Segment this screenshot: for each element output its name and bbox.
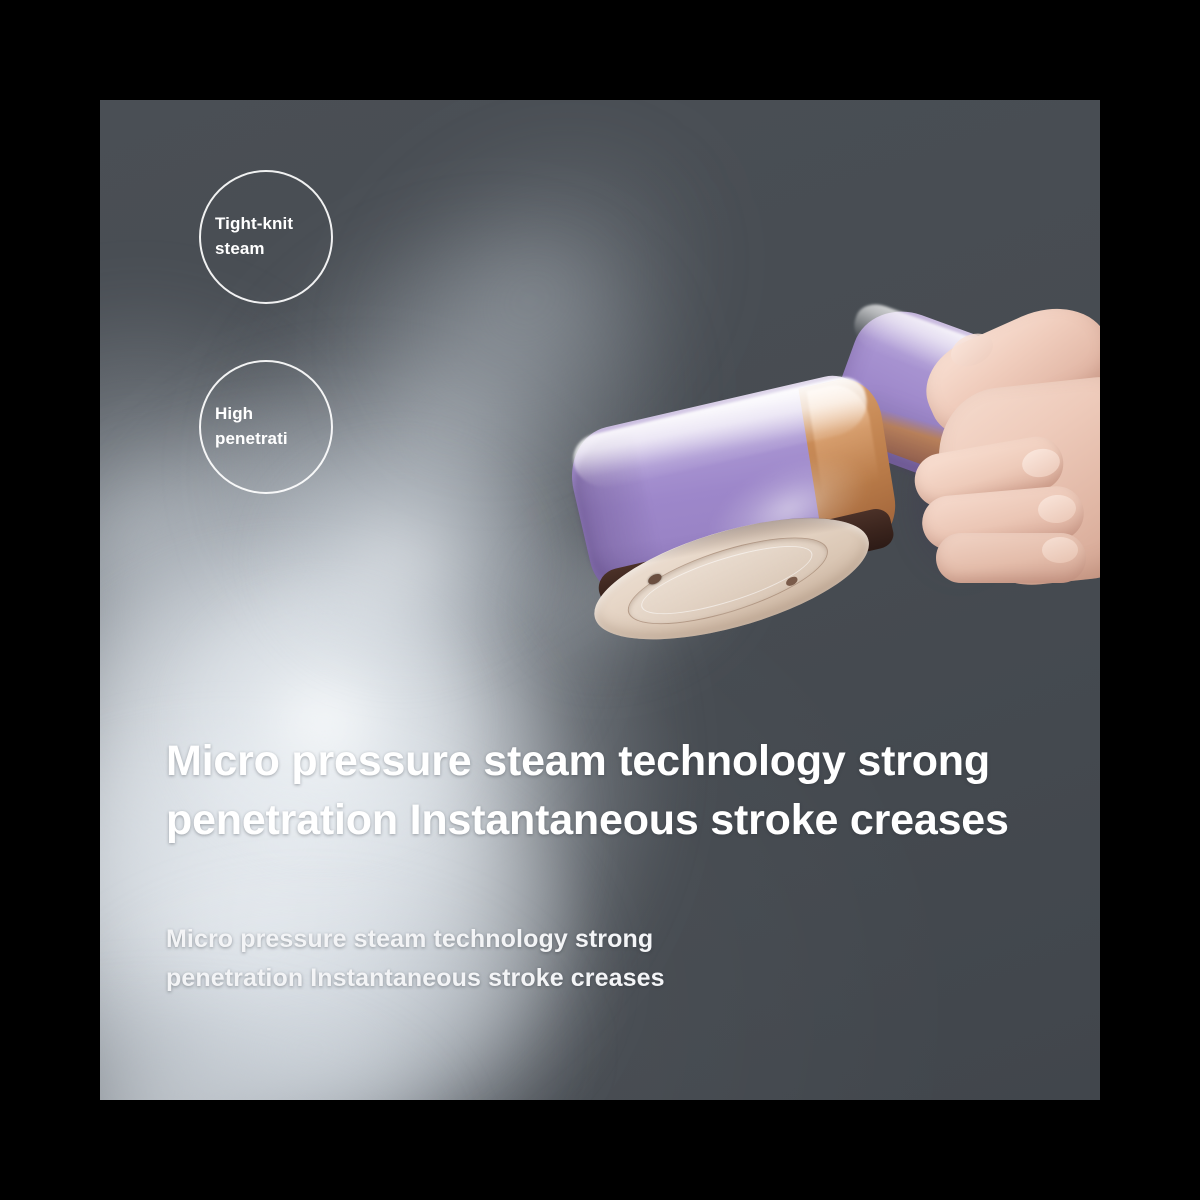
screenshot-canvas: Tight-knit steam High penetrati Micro pr…	[0, 0, 1200, 1200]
headline-text: Micro pressure steam technology strong p…	[166, 732, 1086, 850]
steam-wisp	[100, 980, 470, 1100]
feature-badge-high-penetration: High penetrati	[199, 360, 333, 494]
feature-badge-tight-knit-steam: Tight-knit steam	[199, 170, 333, 304]
steamer-head	[561, 368, 908, 633]
steam-wisp	[100, 280, 380, 800]
subheadline-text: Micro pressure steam technology strong p…	[166, 920, 866, 998]
badge-label: High penetrati	[201, 402, 288, 451]
garment-steamer	[570, 295, 1100, 625]
badge-label: Tight-knit steam	[201, 212, 293, 261]
fingernail	[1042, 537, 1078, 563]
product-photo: Tight-knit steam High penetrati Micro pr…	[100, 100, 1100, 1100]
